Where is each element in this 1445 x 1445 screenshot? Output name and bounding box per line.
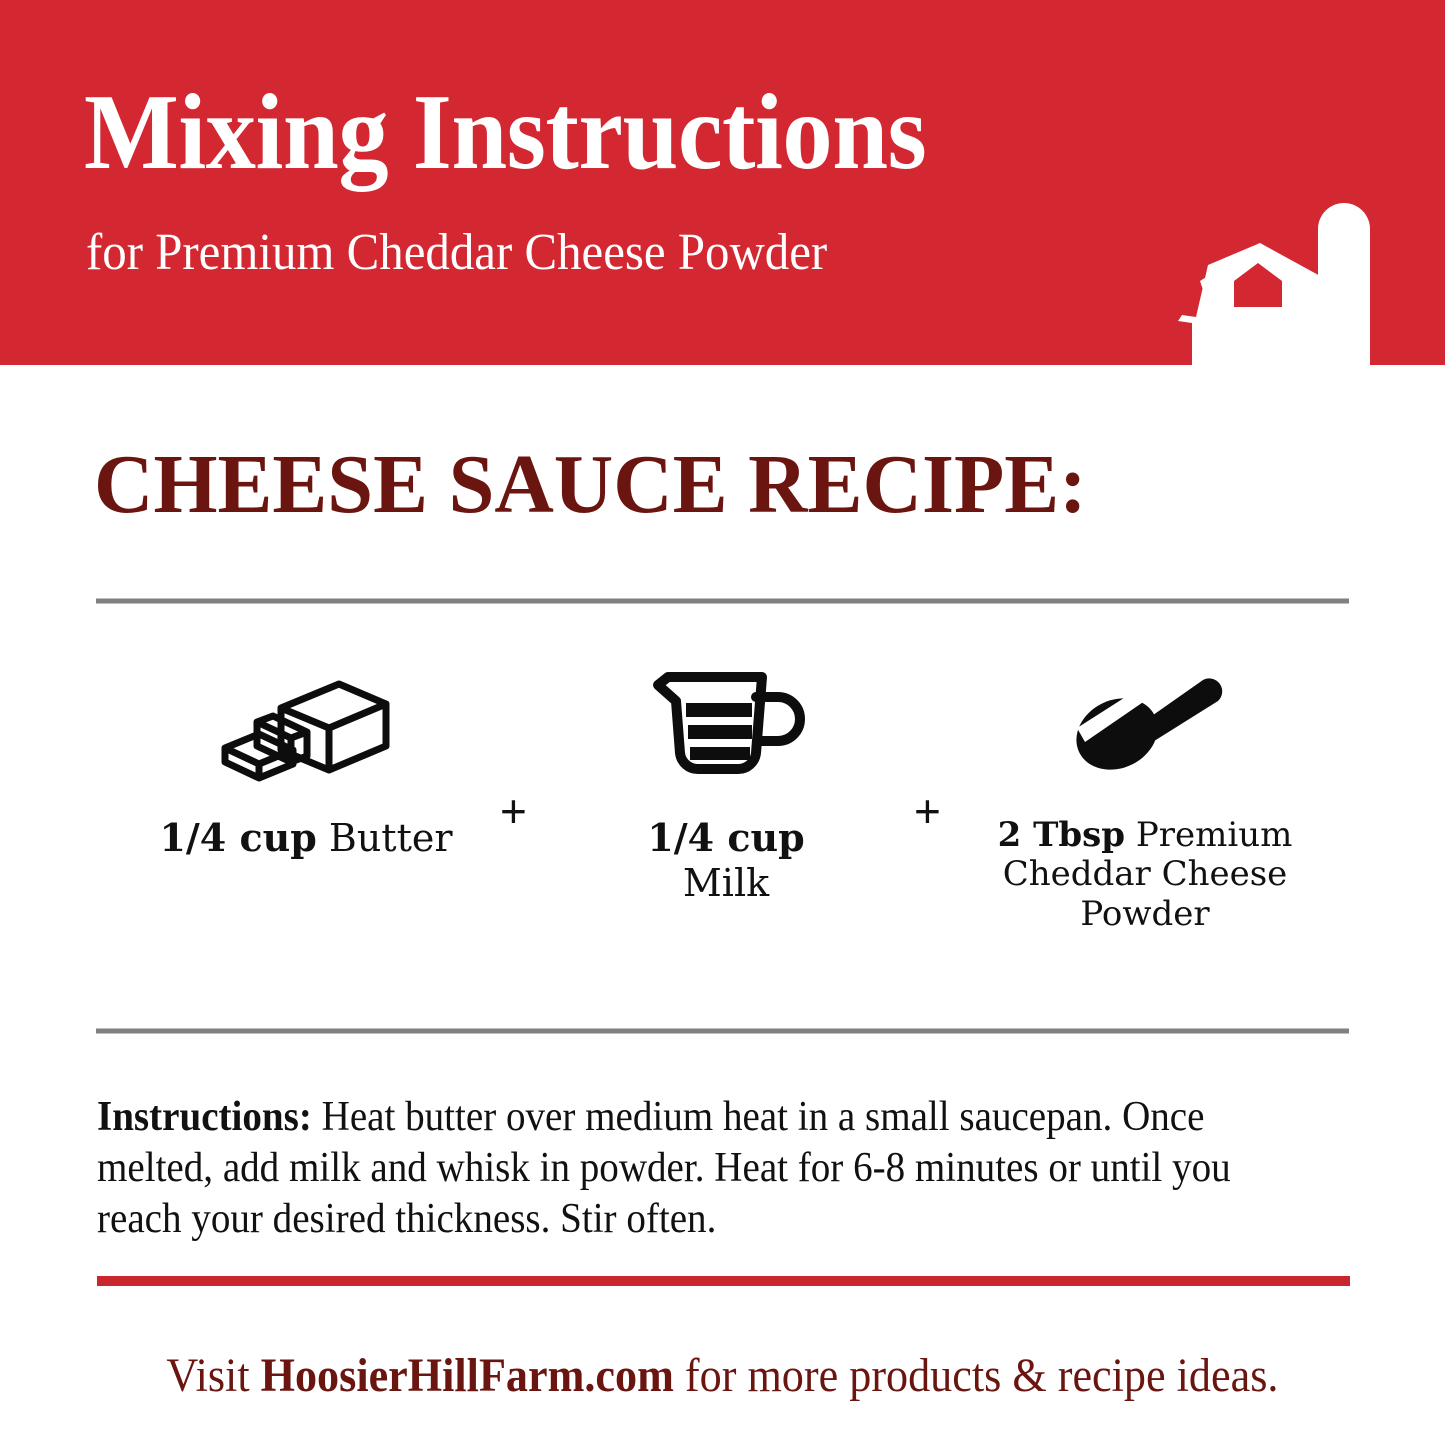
- recipe-heading: CHEESE SAUCE RECIPE:: [94, 443, 1087, 527]
- ingredient-milk-label: 1/4 cup Milk: [536, 816, 916, 906]
- footer-prefix: Visit: [166, 1349, 260, 1402]
- ingredient-butter-name: Butter: [329, 816, 453, 860]
- divider-top: [96, 598, 1349, 604]
- ingredient-cheese-powder: 2 Tbsp Premium Cheddar Cheese Powder: [941, 650, 1349, 934]
- mixing-instructions-card: Mixing Instructions for Premium Cheddar …: [0, 0, 1445, 1445]
- ingredient-cheese-powder-label: 2 Tbsp Premium Cheddar Cheese Powder: [941, 816, 1349, 934]
- footer-suffix: for more products & recipe ideas.: [674, 1349, 1279, 1402]
- measuring-cup-icon: [536, 650, 916, 800]
- ingredient-cheese-powder-amount: 2 Tbsp: [998, 815, 1125, 855]
- butter-stick-icon: [96, 650, 516, 800]
- ingredient-milk: 1/4 cup Milk: [536, 650, 916, 906]
- plus-separator-2: +: [914, 788, 941, 834]
- header-banner: Mixing Instructions for Premium Cheddar …: [0, 0, 1445, 365]
- footer: Visit HoosierHillFarm.com for more produ…: [0, 1352, 1445, 1400]
- ingredient-milk-amount: 1/4 cup: [647, 815, 804, 860]
- ingredient-butter: 1/4 cup Butter: [96, 650, 516, 861]
- ingredient-milk-name: Milk: [683, 861, 769, 905]
- instructions-paragraph: Instructions: Heat butter over medium he…: [97, 1092, 1241, 1244]
- plus-separator-1: +: [500, 788, 527, 834]
- divider-bottom: [96, 1028, 1349, 1034]
- ingredients-row: 1/4 cup Butter +: [96, 650, 1349, 990]
- footer-website-link[interactable]: HoosierHillFarm.com: [261, 1349, 674, 1402]
- footer-rule: [97, 1276, 1350, 1286]
- ingredient-butter-amount: 1/4 cup: [159, 815, 316, 860]
- spoon-icon: [941, 650, 1349, 800]
- page-subtitle: for Premium Cheddar Cheese Powder: [86, 224, 827, 281]
- barn-silo-icon: [1170, 195, 1420, 365]
- instructions-label: Instructions:: [97, 1094, 312, 1140]
- ingredient-butter-label: 1/4 cup Butter: [96, 816, 516, 861]
- page-title: Mixing Instructions: [84, 78, 926, 188]
